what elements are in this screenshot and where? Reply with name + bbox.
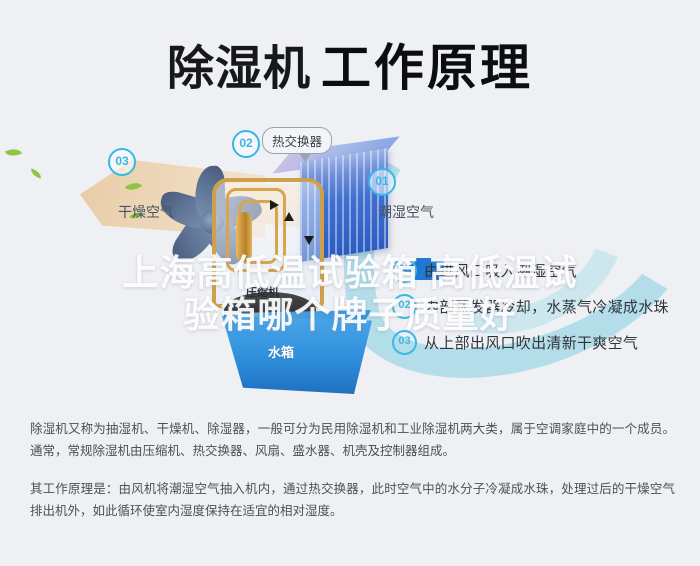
page-title-subject: 除湿机: [167, 42, 311, 95]
step-badge: 03: [392, 330, 417, 355]
flow-arrow-right-icon: [270, 200, 279, 210]
body-paragraph-2: 其工作原理是：由风机将潮湿空气抽入机内，通过热交换器，此时空气中的水分子冷凝成水…: [30, 478, 675, 522]
step-label: 从上部出风口吹出清新干爽空气: [424, 332, 638, 353]
step-label: 由进风口吸入潮湿空气: [424, 260, 577, 281]
leaf-icon: [5, 145, 22, 159]
compressor-label: 压缩机: [246, 284, 279, 300]
diagram-badge-01: 01: [368, 168, 396, 196]
page-title: 除湿机工作原理: [0, 28, 700, 100]
step-item: 02 内部蒸发器冷却，水蒸气冷凝成水珠: [392, 288, 692, 324]
heat-exchanger-callout: 热交换器: [262, 127, 332, 154]
step-item: 03 从上部出风口吹出清新干爽空气: [392, 324, 692, 360]
moist-air-label: 潮湿空气: [378, 202, 434, 222]
step-label: 内部蒸发器冷却，水蒸气冷凝成水珠: [424, 296, 669, 317]
body-copy: 除湿机又称为抽湿机、干燥机、除湿器，一般可分为民用除湿机和工业除湿机两大类，属于…: [30, 418, 675, 522]
water-tank-label: 水箱: [268, 342, 294, 361]
dry-air-label: 干燥空气: [118, 202, 174, 222]
step-item: 01 由进风口吸入潮湿空气: [392, 252, 692, 288]
flow-arrow-down-icon: [304, 236, 314, 245]
step-list: 01 由进风口吸入潮湿空气 02 内部蒸发器冷却，水蒸气冷凝成水珠 03 从上部…: [392, 252, 692, 360]
step-badge: 01: [392, 258, 417, 283]
page-root: 除湿机工作原理: [0, 0, 700, 566]
step-badge: 02: [392, 294, 417, 319]
flow-arrow-up-icon: [284, 212, 294, 221]
diagram-badge-02: 02: [232, 130, 260, 158]
page-title-predicate: 工作原理: [321, 40, 533, 96]
body-paragraph-1: 除湿机又称为抽湿机、干燥机、除湿器，一般可分为民用除湿机和工业除湿机两大类，属于…: [30, 418, 675, 462]
compressor-cylinder: [236, 212, 252, 262]
diagram-badge-03: 03: [108, 148, 136, 176]
leaf-icon: [29, 168, 43, 178]
water-tank-graphic: [222, 316, 372, 394]
